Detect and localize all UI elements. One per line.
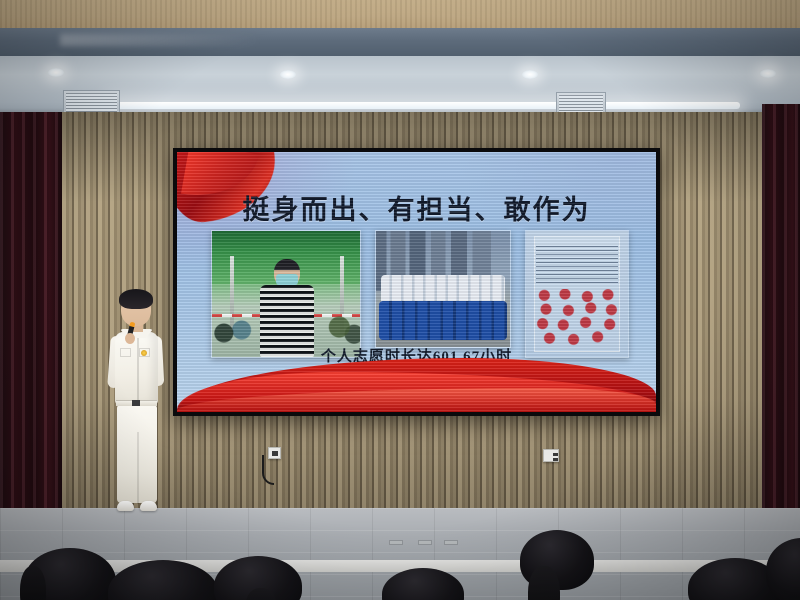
belt-buckle-icon — [132, 400, 140, 406]
audience-ponytail — [20, 566, 46, 600]
stage-curtain-left — [0, 112, 62, 512]
shirt-pocket — [120, 348, 131, 357]
chest-badge-icon — [141, 350, 147, 356]
linear-light-strip-icon — [108, 102, 740, 109]
screen-bezel: 挺身而出、有担当、敢作为 — [173, 148, 660, 416]
photo-volunteer-at-testing-site — [211, 230, 361, 358]
presenter-shoe — [140, 501, 157, 511]
ceiling-wood-band — [0, 0, 800, 30]
presenter-hair — [119, 289, 153, 309]
stage-curtain-right — [762, 104, 800, 516]
floor-insert — [389, 540, 403, 545]
power-cable — [262, 455, 274, 485]
presenter — [104, 292, 170, 520]
downlight-icon — [522, 70, 538, 79]
floor-insert — [418, 540, 432, 545]
photo-volunteer-group — [375, 230, 511, 348]
downlight-icon — [760, 69, 776, 78]
socket-hole — [553, 458, 558, 461]
downlight-icon — [48, 68, 64, 77]
stage-edge — [0, 560, 800, 572]
led-presentation-screen[interactable]: 挺身而出、有担当、敢作为 — [177, 152, 656, 412]
wall-socket-right[interactable] — [543, 449, 559, 462]
floor-insert — [444, 540, 458, 545]
auditorium-scene: 挺身而出、有担当、敢作为 — [0, 0, 800, 600]
socket-hole — [553, 453, 558, 456]
slide-photo-strip — [211, 230, 629, 360]
slide-title: 挺身而出、有担当、敢作为 — [177, 188, 656, 227]
photo-letter-with-red-fingerprints — [525, 230, 629, 358]
shirt-placket — [137, 334, 139, 400]
presenter-shoe — [117, 501, 134, 511]
trouser-seam — [137, 432, 139, 504]
downlight-icon — [280, 70, 296, 79]
presenter-hand — [125, 333, 135, 344]
